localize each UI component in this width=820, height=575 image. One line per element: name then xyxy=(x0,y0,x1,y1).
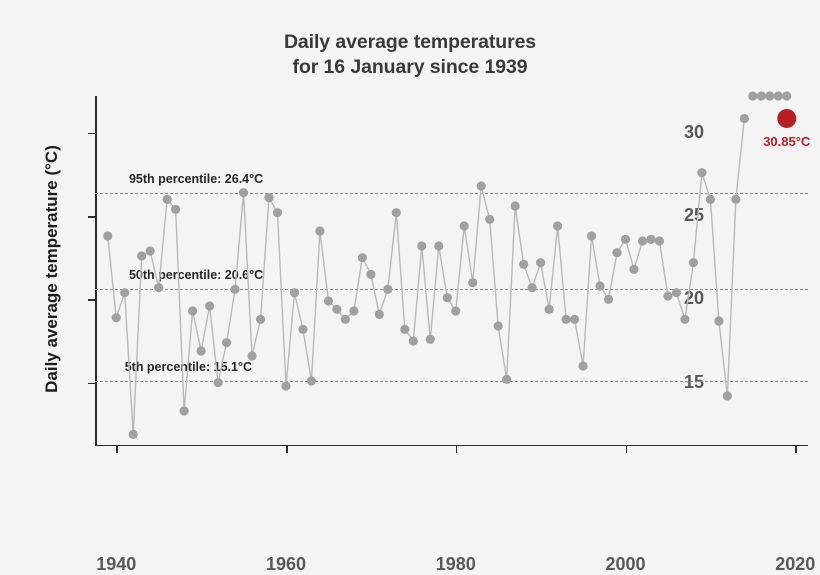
data-point[interactable] xyxy=(239,188,248,197)
data-point[interactable] xyxy=(519,260,528,269)
data-point[interactable] xyxy=(256,315,265,324)
data-point[interactable] xyxy=(655,236,664,245)
data-point[interactable] xyxy=(494,321,503,330)
data-point[interactable] xyxy=(273,208,282,217)
data-point[interactable] xyxy=(171,205,180,214)
data-point[interactable] xyxy=(222,338,231,347)
data-point[interactable] xyxy=(460,221,469,230)
data-point[interactable] xyxy=(103,231,112,240)
data-point[interactable] xyxy=(468,278,477,287)
data-point[interactable] xyxy=(392,208,401,217)
data-point[interactable] xyxy=(638,236,647,245)
data-point[interactable] xyxy=(146,246,155,255)
chart-title-line-1: Daily average temperatures xyxy=(284,31,536,53)
x-tick-label: 1980 xyxy=(416,554,496,575)
data-point[interactable] xyxy=(247,351,256,360)
x-tick-label: 2020 xyxy=(755,554,820,575)
data-point[interactable] xyxy=(587,231,596,240)
data-point[interactable] xyxy=(358,253,367,262)
data-point[interactable] xyxy=(774,91,783,100)
y-tick-mark xyxy=(88,299,95,301)
data-point[interactable] xyxy=(307,376,316,385)
data-point[interactable] xyxy=(188,306,197,315)
data-point[interactable] xyxy=(485,215,494,224)
data-point[interactable] xyxy=(324,296,333,305)
data-point[interactable] xyxy=(689,258,698,267)
data-point[interactable] xyxy=(264,193,273,202)
highlighted-point-label: 30.85°C xyxy=(763,134,810,149)
data-point[interactable] xyxy=(213,378,222,387)
y-tick-mark xyxy=(88,216,95,218)
data-point[interactable] xyxy=(731,195,740,204)
data-point[interactable] xyxy=(663,291,672,300)
x-tick-mark xyxy=(795,446,797,453)
data-point[interactable] xyxy=(621,235,630,244)
data-point[interactable] xyxy=(230,285,239,294)
data-point[interactable] xyxy=(629,265,638,274)
y-tick-mark xyxy=(88,133,95,135)
data-point[interactable] xyxy=(341,315,350,324)
data-point[interactable] xyxy=(612,248,621,257)
data-point[interactable] xyxy=(782,91,791,100)
data-point[interactable] xyxy=(757,91,766,100)
data-point[interactable] xyxy=(290,288,299,297)
y-tick-mark xyxy=(88,383,95,385)
data-point[interactable] xyxy=(511,201,520,210)
data-point[interactable] xyxy=(298,325,307,334)
y-axis-title: Daily average temperature (°C) xyxy=(42,104,62,434)
x-tick-mark xyxy=(286,446,288,453)
chart-title: Daily average temperatures for 16 Januar… xyxy=(0,30,820,80)
data-point[interactable] xyxy=(426,335,435,344)
data-point[interactable] xyxy=(714,316,723,325)
data-point[interactable] xyxy=(553,221,562,230)
data-point[interactable] xyxy=(502,375,511,384)
data-point[interactable] xyxy=(163,195,172,204)
data-point[interactable] xyxy=(723,391,732,400)
series-line xyxy=(108,119,745,435)
x-tick-label: 1960 xyxy=(246,554,326,575)
data-point[interactable] xyxy=(646,235,655,244)
data-point[interactable] xyxy=(697,168,706,177)
data-point[interactable] xyxy=(528,283,537,292)
data-point[interactable] xyxy=(680,315,689,324)
data-point[interactable] xyxy=(349,306,358,315)
plot-area: 1520253019401960198020002020 95th percen… xyxy=(95,96,808,446)
data-point[interactable] xyxy=(400,325,409,334)
data-point[interactable] xyxy=(672,288,681,297)
x-tick-mark xyxy=(116,446,118,453)
data-point[interactable] xyxy=(315,226,324,235)
data-point[interactable] xyxy=(383,285,392,294)
data-point[interactable] xyxy=(477,181,486,190)
data-point[interactable] xyxy=(137,251,146,260)
data-point[interactable] xyxy=(578,361,587,370)
data-point[interactable] xyxy=(409,336,418,345)
data-point[interactable] xyxy=(154,283,163,292)
x-tick-mark xyxy=(626,446,628,453)
data-point[interactable] xyxy=(281,381,290,390)
data-point[interactable] xyxy=(570,315,579,324)
data-point[interactable] xyxy=(120,288,129,297)
data-point[interactable] xyxy=(366,270,375,279)
highlighted-data-point[interactable] xyxy=(777,109,796,128)
data-point[interactable] xyxy=(417,241,426,250)
data-point[interactable] xyxy=(740,114,749,123)
data-point[interactable] xyxy=(205,301,214,310)
data-point[interactable] xyxy=(748,91,757,100)
data-point[interactable] xyxy=(375,310,384,319)
data-series xyxy=(95,96,808,446)
data-point[interactable] xyxy=(604,295,613,304)
data-point[interactable] xyxy=(451,306,460,315)
x-tick-mark xyxy=(456,446,458,453)
data-point[interactable] xyxy=(332,305,341,314)
data-point[interactable] xyxy=(434,241,443,250)
data-point[interactable] xyxy=(129,430,138,439)
x-tick-label: 2000 xyxy=(586,554,666,575)
data-point[interactable] xyxy=(595,281,604,290)
temperature-chart: Daily average temperatures for 16 Januar… xyxy=(0,0,820,488)
data-point[interactable] xyxy=(112,313,121,322)
data-point[interactable] xyxy=(180,406,189,415)
data-point[interactable] xyxy=(765,91,774,100)
data-point[interactable] xyxy=(561,315,570,324)
x-tick-label: 1940 xyxy=(76,554,156,575)
data-point[interactable] xyxy=(197,346,206,355)
chart-title-line-2: for 16 January since 1939 xyxy=(0,55,820,80)
data-point[interactable] xyxy=(536,258,545,267)
data-point[interactable] xyxy=(706,195,715,204)
data-point[interactable] xyxy=(443,293,452,302)
data-point[interactable] xyxy=(545,305,554,314)
